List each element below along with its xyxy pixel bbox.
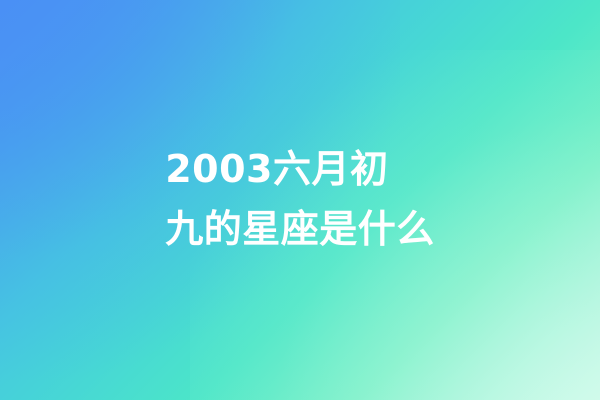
headline-line-1: 2003六月初 xyxy=(165,139,435,199)
poster-canvas: 2003六月初 九的星座是什么 xyxy=(0,0,600,400)
headline-text-group: 2003六月初 九的星座是什么 xyxy=(165,139,435,259)
headline-line-2: 九的星座是什么 xyxy=(165,199,435,259)
headline-block: 2003六月初 九的星座是什么 xyxy=(0,139,600,259)
